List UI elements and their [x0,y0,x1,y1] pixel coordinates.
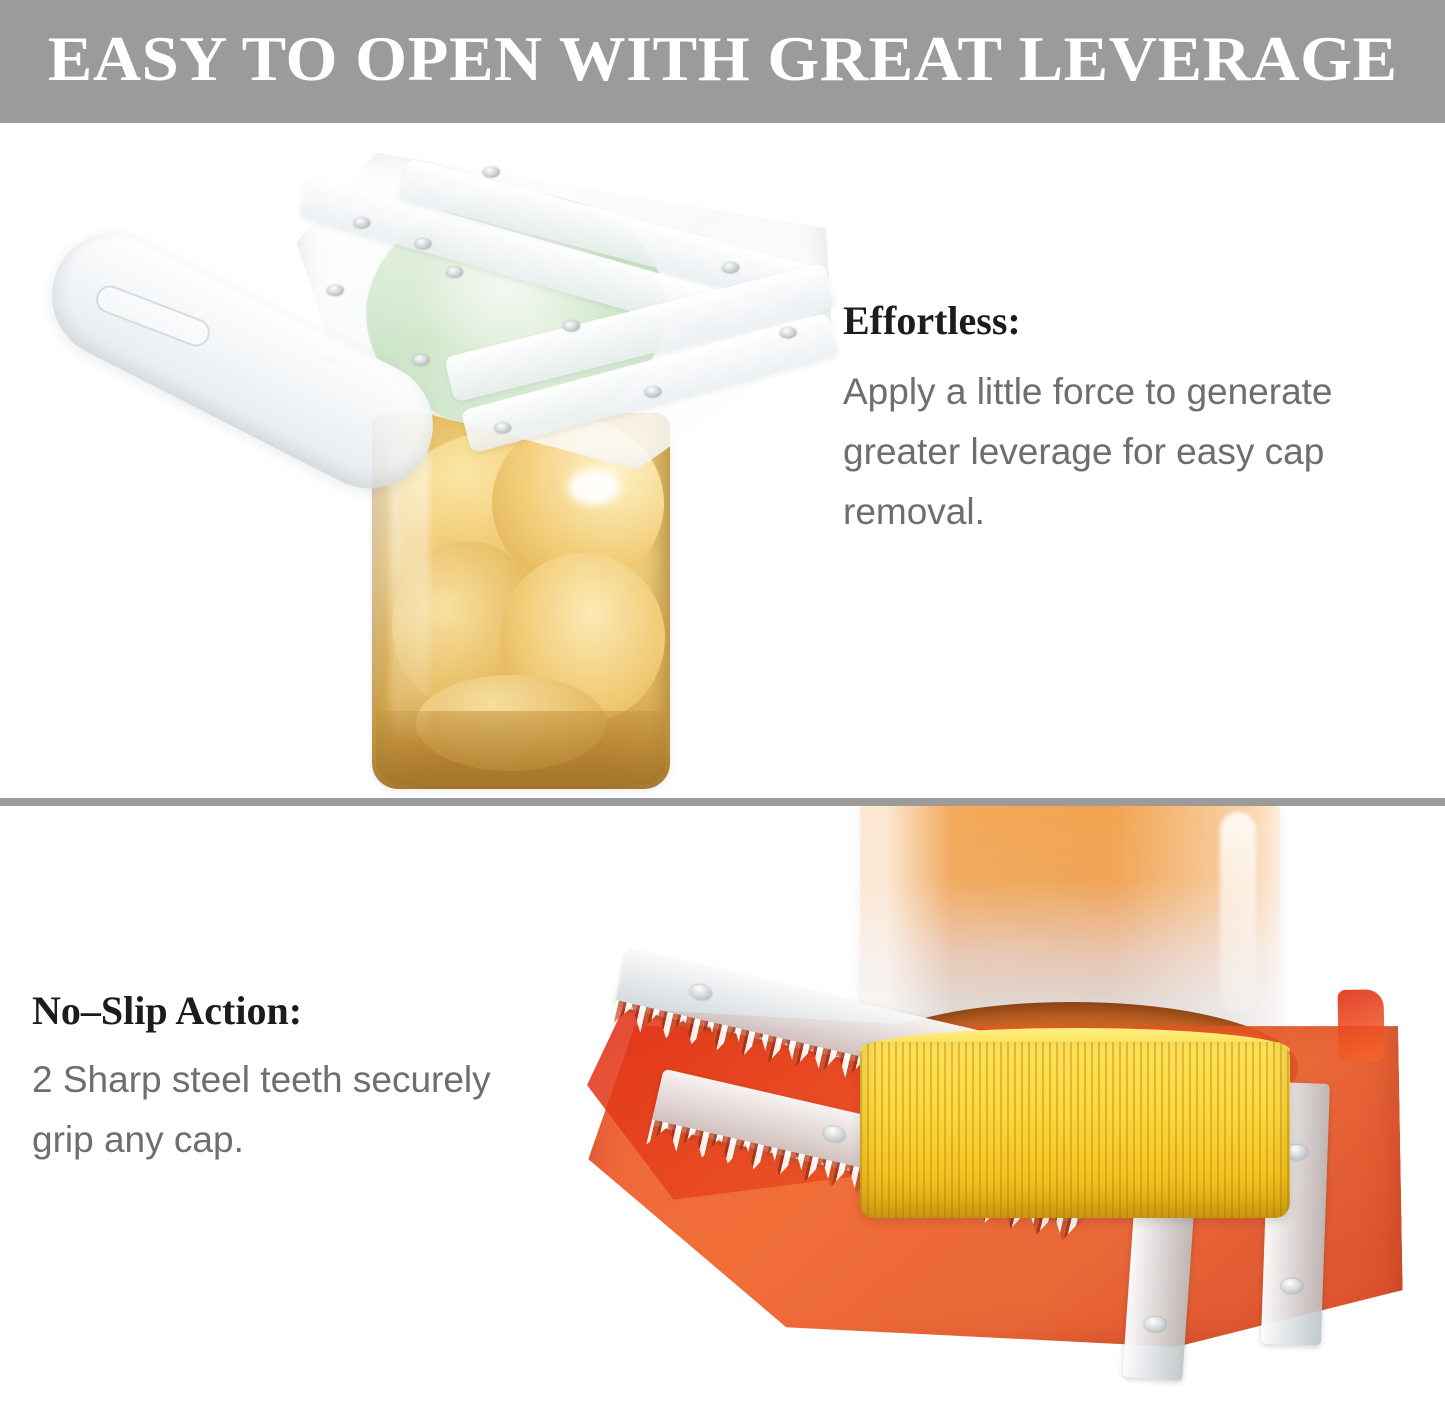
feature-panel-effortless: Effortless: Apply a little force to gene… [0,123,1445,798]
syrup-layer [376,711,666,785]
bottle-opener-photo [560,806,1445,1409]
rivet-icon [688,983,713,1003]
opener-corner-hook [1337,989,1384,1062]
rivet-icon [1144,1316,1167,1332]
banner-title: EASY TO OPEN WITH GREAT LEVERAGE [48,28,1398,95]
rivet-icon [1281,1278,1304,1294]
rivet-icon [822,1124,847,1144]
glass-highlight [568,469,620,505]
no-slip-heading: No–Slip Action: [32,988,552,1034]
product-feature-image: EASY TO OPEN WITH GREAT LEVERAGE [0,0,1445,1409]
jar-opener-photo [0,123,840,798]
effortless-body: Apply a little force to generate greater… [843,362,1443,542]
panel-divider [0,798,1445,806]
header-banner: EASY TO OPEN WITH GREAT LEVERAGE [0,0,1445,123]
effortless-text-block: Effortless: Apply a little force to gene… [843,298,1443,542]
no-slip-body: 2 Sharp steel teeth securely grip any ca… [32,1050,552,1170]
no-slip-text-block: No–Slip Action: 2 Sharp steel teeth secu… [32,988,552,1170]
yellow-bottle-cap [860,1042,1290,1218]
effortless-heading: Effortless: [843,298,1443,344]
feature-panel-no-slip: No–Slip Action: 2 Sharp steel teeth secu… [0,806,1445,1409]
